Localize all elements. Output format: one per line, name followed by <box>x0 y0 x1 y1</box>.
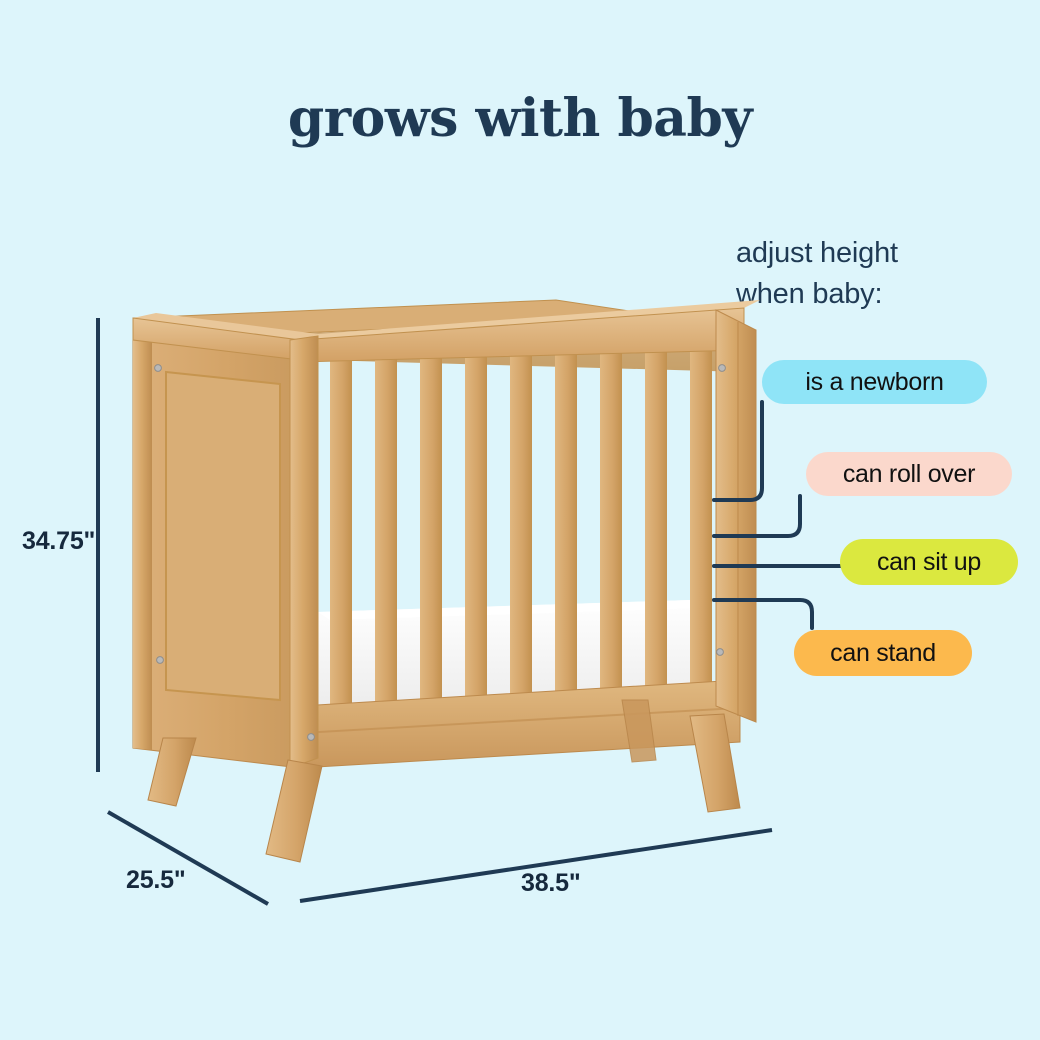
crib-screw <box>155 365 162 372</box>
crib-screw <box>719 365 726 372</box>
dimension-label-depth: 25.5" <box>126 866 186 895</box>
crib-slat <box>555 347 577 713</box>
crib-slat <box>510 349 532 715</box>
crib-slat <box>690 343 712 707</box>
crib-slat <box>645 344 667 709</box>
crib-left-panel-inset <box>166 372 280 700</box>
crib-screw <box>308 734 315 741</box>
crib-left-front-post <box>133 340 152 750</box>
callout-pill-label: can roll over <box>843 460 975 489</box>
crib-slat <box>465 351 487 717</box>
crib-slat <box>600 346 622 711</box>
callout-pill-is-a-newborn[interactable]: is a newborn <box>762 360 987 404</box>
callout-pill-label: is a newborn <box>805 368 943 397</box>
callout-pill-label: can stand <box>830 639 936 668</box>
crib-corner-post <box>290 336 318 768</box>
crib-slat <box>330 357 352 723</box>
crib <box>133 300 760 862</box>
crib-front-slats <box>330 343 712 723</box>
crib-slat <box>375 355 397 721</box>
callout-pill-can-roll-over[interactable]: can roll over <box>806 452 1012 496</box>
callout-pill-can-sit-up[interactable]: can sit up <box>840 539 1018 585</box>
callout-pill-can-stand[interactable]: can stand <box>794 630 972 676</box>
callout-pill-label: can sit up <box>877 548 981 577</box>
dimension-label-width: 38.5" <box>521 869 581 898</box>
crib-screw <box>717 649 724 656</box>
illustration-canvas: grows with baby adjust height when baby: <box>0 0 1040 1040</box>
crib-slat <box>420 353 442 719</box>
crib-screw <box>157 657 164 664</box>
dimension-label-height: 34.75" <box>22 527 95 556</box>
crib-leg-front-left <box>266 760 322 862</box>
